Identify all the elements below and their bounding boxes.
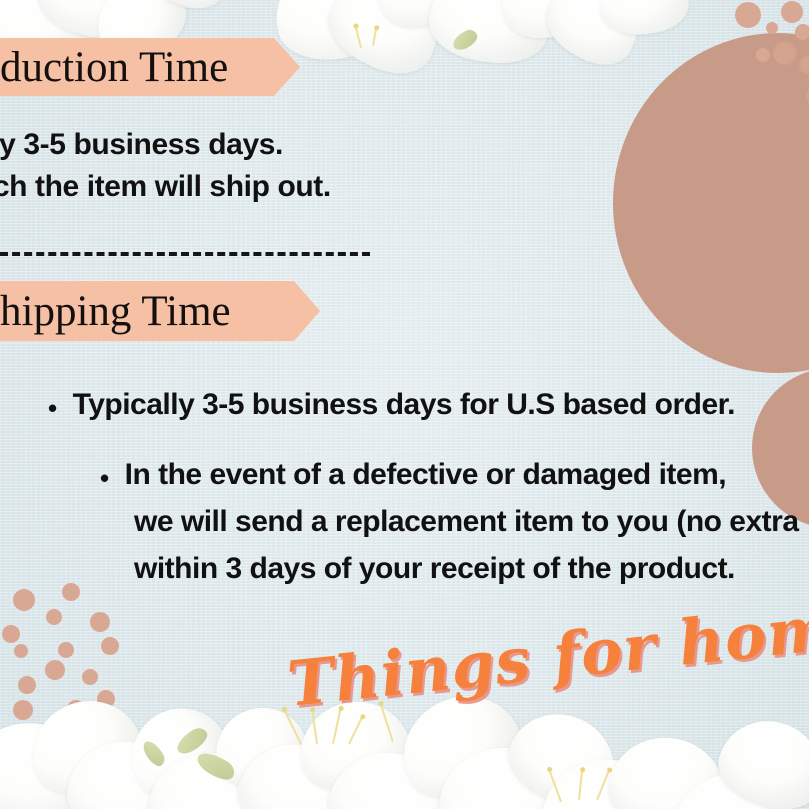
shipping-bullet-2-line-2: we will send a replacement item to you (… <box>134 505 799 539</box>
decorative-dot <box>86 748 102 764</box>
decorative-dot <box>756 48 770 62</box>
shipping-bullet-2: • In the event of a defective or damaged… <box>100 458 726 492</box>
production-line-1: ally 3-5 business days. <box>0 128 283 162</box>
decorative-dot <box>97 690 115 708</box>
decorative-dot <box>781 1 803 23</box>
decorative-dot <box>58 642 74 658</box>
brand-signature: Things for home desi <box>284 569 809 721</box>
dashed-divider <box>0 252 370 256</box>
decorative-dot <box>773 41 797 65</box>
production-line-2: hich the item will ship out. <box>0 170 331 204</box>
decorative-dot <box>2 625 20 643</box>
shipping-bullet-2-line-1: In the event of a defective or damaged i… <box>125 458 727 492</box>
heading-shipping-time: hipping Time <box>0 290 231 333</box>
decorative-dot <box>2 769 20 787</box>
decorative-dot <box>735 2 761 28</box>
decorative-dot <box>46 609 62 625</box>
decorative-dot <box>7 732 29 754</box>
decorative-dot <box>795 24 809 40</box>
decorative-dot <box>13 700 33 720</box>
poster-canvas: duction Time ally 3-5 business days. hic… <box>0 0 809 809</box>
shipping-bullet-1: • Typically 3-5 business days for U.S ba… <box>48 388 735 422</box>
decorative-dot <box>62 583 80 601</box>
decorative-circle-large <box>613 33 809 373</box>
decorative-dot <box>766 22 778 34</box>
shipping-bullet-1-text: Typically 3-5 business days for U.S base… <box>73 388 735 422</box>
decorative-circle-small <box>752 368 809 528</box>
heading-banner-shipping-time: hipping Time <box>0 281 320 341</box>
decorative-dot <box>106 710 124 728</box>
decorative-dot <box>101 637 119 655</box>
decorative-dot <box>82 669 98 685</box>
bullet-marker-icon: • <box>100 465 109 491</box>
heading-production-time: duction Time <box>0 46 228 89</box>
decorative-dot <box>50 752 68 770</box>
decorative-dot <box>18 676 36 694</box>
decorative-dot <box>13 589 35 611</box>
decorative-dot <box>80 787 98 805</box>
decorative-dot <box>39 781 55 797</box>
decorative-dot <box>45 660 65 680</box>
decorative-dot <box>14 644 28 658</box>
bullet-marker-icon: • <box>48 395 57 421</box>
heading-banner-production-time: duction Time <box>0 38 300 96</box>
decorative-dot <box>67 700 85 718</box>
decorative-dot <box>90 612 110 632</box>
shipping-bullet-2-line-3: within 3 days of your receipt of the pro… <box>134 552 735 586</box>
